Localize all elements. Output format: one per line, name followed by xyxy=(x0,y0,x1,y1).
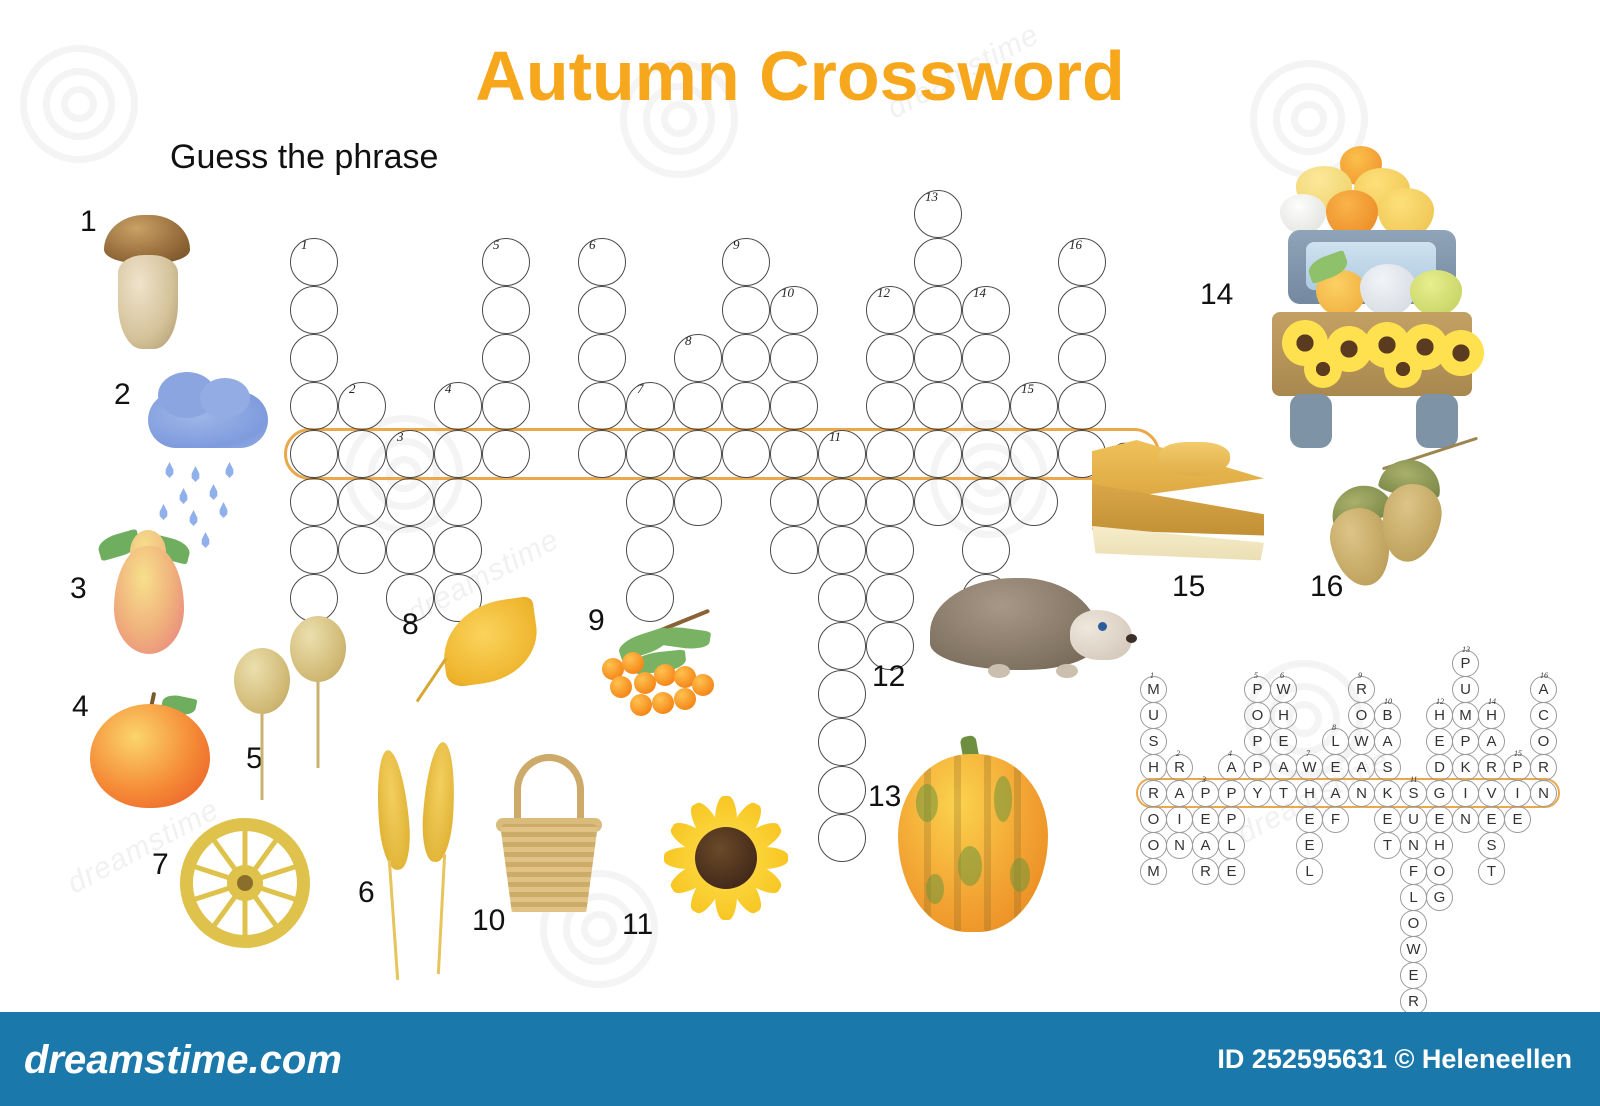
crossword-cell[interactable]: 10 xyxy=(770,286,818,334)
answer-key-cell-number: 6 xyxy=(1280,671,1284,680)
answer-key-cell: U xyxy=(1400,806,1427,833)
crossword-cell[interactable] xyxy=(962,430,1010,478)
answer-key-cell: P xyxy=(1244,728,1271,755)
crossword-cell[interactable] xyxy=(866,526,914,574)
answer-key-cell-number: 5 xyxy=(1254,671,1258,680)
answer-key-cell: E xyxy=(1270,728,1297,755)
crossword-cell-number: 11 xyxy=(829,429,841,445)
answer-key-cell: P5 xyxy=(1244,676,1271,703)
sunflower-illustration xyxy=(646,778,806,938)
clue-number-13: 13 xyxy=(868,780,901,814)
answer-key-cell: I xyxy=(1452,780,1479,807)
crossword-cell[interactable] xyxy=(818,574,866,622)
crossword-cell[interactable] xyxy=(818,814,866,862)
crossword-cell[interactable] xyxy=(482,286,530,334)
answer-key-cell-number: 2 xyxy=(1176,749,1180,758)
answer-key-cell: F xyxy=(1400,858,1427,885)
clue-number-7: 7 xyxy=(152,848,169,882)
answer-key-cell: M xyxy=(1452,702,1479,729)
answer-key-cell: R xyxy=(1530,754,1557,781)
answer-key-cell: I xyxy=(1504,780,1531,807)
answer-key-cell: H xyxy=(1296,780,1323,807)
crossword-cell[interactable] xyxy=(626,478,674,526)
answer-key-cell-number: 1 xyxy=(1150,671,1154,680)
crossword-cell[interactable] xyxy=(1010,478,1058,526)
answer-key-cell: P15 xyxy=(1504,754,1531,781)
answer-key-cell: P xyxy=(1244,754,1271,781)
brand-logo: dreamstime.com xyxy=(24,1038,342,1083)
crossword-cell[interactable] xyxy=(722,334,770,382)
answer-key-cell-number: 14 xyxy=(1488,697,1496,706)
image-credit: ID 252595631 © Heleneellen xyxy=(1217,1044,1572,1075)
answer-key-cell: S xyxy=(1478,832,1505,859)
answer-key-cell: R xyxy=(1140,780,1167,807)
answer-key-cell-number: 8 xyxy=(1332,723,1336,732)
crossword-cell[interactable] xyxy=(626,526,674,574)
answer-key-cell-number: 16 xyxy=(1540,671,1548,680)
crossword-cell[interactable] xyxy=(482,430,530,478)
crossword-cell[interactable] xyxy=(962,526,1010,574)
answer-key-cell: E xyxy=(1296,806,1323,833)
answer-key-cell: E xyxy=(1400,962,1427,989)
poppy-pods-illustration xyxy=(230,612,360,792)
answer-key-cell: T xyxy=(1374,832,1401,859)
wheat-illustration xyxy=(368,742,478,957)
crossword-cell[interactable] xyxy=(866,430,914,478)
crossword-cell[interactable] xyxy=(818,526,866,574)
crossword-cell[interactable]: 1 xyxy=(290,238,338,286)
answer-key-cell: S11 xyxy=(1400,780,1427,807)
answer-key-cell: E xyxy=(1296,832,1323,859)
answer-key-cell: P xyxy=(1218,806,1245,833)
answer-key-cell: R9 xyxy=(1348,676,1375,703)
wagon-wheel-illustration xyxy=(180,818,310,948)
crossword-cell[interactable] xyxy=(338,526,386,574)
answer-key-cell: P3 xyxy=(1192,780,1219,807)
crossword-cell-number: 16 xyxy=(1069,237,1082,253)
answer-key-cell: H xyxy=(1270,702,1297,729)
answer-key-cell: A xyxy=(1166,780,1193,807)
crossword-cell[interactable] xyxy=(1010,430,1058,478)
answer-key-cell: A xyxy=(1374,728,1401,755)
answer-key-cell-number: 10 xyxy=(1384,697,1392,706)
crossword-cell-number: 5 xyxy=(493,237,500,253)
answer-key-cell: K xyxy=(1452,754,1479,781)
pumpkin-truck-illustration xyxy=(1242,144,1502,414)
answer-key-cell: O xyxy=(1244,702,1271,729)
crossword-cell[interactable] xyxy=(770,478,818,526)
basket-illustration xyxy=(500,788,600,928)
answer-key-cell: O xyxy=(1140,806,1167,833)
crossword-cell[interactable] xyxy=(818,670,866,718)
answer-key-cell: P13 xyxy=(1452,650,1479,677)
clue-number-15: 15 xyxy=(1172,570,1205,604)
crossword-cell[interactable]: 14 xyxy=(962,286,1010,334)
crossword-cell[interactable] xyxy=(866,574,914,622)
crossword-cell[interactable] xyxy=(1058,334,1106,382)
answer-key-cell: H12 xyxy=(1426,702,1453,729)
answer-key-cell: E xyxy=(1478,806,1505,833)
clue-number-12: 12 xyxy=(872,660,905,694)
answer-key-cell: U xyxy=(1452,676,1479,703)
crossword-cell-number: 8 xyxy=(685,333,692,349)
answer-key-cell: N xyxy=(1348,780,1375,807)
answer-key-cell: W6 xyxy=(1270,676,1297,703)
crossword-cell[interactable]: 6 xyxy=(578,238,626,286)
crossword-cell[interactable] xyxy=(914,286,962,334)
answer-key-cell: F xyxy=(1322,806,1349,833)
crossword-cell[interactable] xyxy=(434,430,482,478)
answer-key-cell: P xyxy=(1218,780,1245,807)
leaf-illustration xyxy=(420,598,540,708)
answer-key-cell: C xyxy=(1530,702,1557,729)
crossword-cell-number: 2 xyxy=(349,381,356,397)
crossword-cell[interactable] xyxy=(914,430,962,478)
crossword-cell[interactable] xyxy=(818,478,866,526)
answer-key-cell: A16 xyxy=(1530,676,1557,703)
crossword-cell[interactable] xyxy=(482,334,530,382)
answer-key-cell-number: 7 xyxy=(1306,749,1310,758)
answer-key-cell-number: 12 xyxy=(1436,697,1444,706)
answer-key-cell: G xyxy=(1426,780,1453,807)
answer-key-cell: A4 xyxy=(1218,754,1245,781)
answer-key-cell: O xyxy=(1530,728,1557,755)
answer-key-cell: L8 xyxy=(1322,728,1349,755)
crossword-cell[interactable] xyxy=(914,382,962,430)
crossword-cell[interactable] xyxy=(482,382,530,430)
answer-key-cell: E xyxy=(1374,806,1401,833)
answer-key-cell: H14 xyxy=(1478,702,1505,729)
crossword-cell-number: 1 xyxy=(301,237,308,253)
answer-key-cell-number: 13 xyxy=(1462,645,1470,654)
answer-key-cell: L xyxy=(1400,884,1427,911)
answer-key-cell: E xyxy=(1426,728,1453,755)
crossword-cell[interactable] xyxy=(674,382,722,430)
pear-illustration xyxy=(96,522,206,672)
answer-key-cell: T xyxy=(1478,858,1505,885)
answer-key-cell: O xyxy=(1400,910,1427,937)
answer-key-cell: V xyxy=(1478,780,1505,807)
answer-key-cell: N xyxy=(1166,832,1193,859)
crossword-cell[interactable]: 3 xyxy=(386,430,434,478)
crossword-cell[interactable] xyxy=(578,334,626,382)
crossword-cell-number: 4 xyxy=(445,381,452,397)
crossword-cell[interactable]: 5 xyxy=(482,238,530,286)
crossword-cell[interactable]: 11 xyxy=(818,430,866,478)
crossword-cell[interactable] xyxy=(578,382,626,430)
answer-key-cell: E xyxy=(1218,858,1245,885)
answer-key-cell: E xyxy=(1322,754,1349,781)
hedgehog-illustration xyxy=(930,568,1145,698)
crossword-cell-number: 13 xyxy=(925,189,938,205)
answer-key-cell-number: 3 xyxy=(1202,775,1206,784)
crossword-cell[interactable] xyxy=(290,382,338,430)
answer-key-cell: R xyxy=(1400,988,1427,1015)
crossword-cell-number: 7 xyxy=(637,381,644,397)
clue-number-4: 4 xyxy=(72,690,89,724)
answer-key-cell: W xyxy=(1400,936,1427,963)
answer-key-grid: M1USHROOMR2AINP3EARA4PPLEP5OPPYW6HEATW7H… xyxy=(1140,650,1560,950)
answer-key-cell: R2 xyxy=(1166,754,1193,781)
crossword-cell[interactable] xyxy=(578,286,626,334)
answer-key-cell: E xyxy=(1192,806,1219,833)
crossword-cell[interactable]: 4 xyxy=(434,382,482,430)
crossword-cell[interactable] xyxy=(434,526,482,574)
answer-key-cell: A xyxy=(1192,832,1219,859)
crossword-cell[interactable] xyxy=(290,478,338,526)
crossword-cell[interactable]: 7 xyxy=(626,382,674,430)
answer-key-cell-number: 11 xyxy=(1410,775,1417,784)
answer-key-cell: L xyxy=(1218,832,1245,859)
crossword-cell[interactable] xyxy=(386,478,434,526)
answer-key-cell: O xyxy=(1348,702,1375,729)
crossword-cell[interactable] xyxy=(914,334,962,382)
answer-key-cell: A xyxy=(1270,754,1297,781)
crossword-cell-number: 10 xyxy=(781,285,794,301)
crossword-cell[interactable] xyxy=(722,286,770,334)
crossword-cell[interactable] xyxy=(674,478,722,526)
answer-key-cell: O xyxy=(1426,858,1453,885)
answer-key-cell: Y xyxy=(1244,780,1271,807)
pumpkin-illustration xyxy=(898,740,1053,940)
answer-key-cell: S xyxy=(1374,754,1401,781)
crossword-cell[interactable] xyxy=(290,334,338,382)
crossword-cell[interactable] xyxy=(818,718,866,766)
answer-key-cell: U xyxy=(1140,702,1167,729)
crossword-cell-number: 3 xyxy=(397,429,404,445)
crossword-cell[interactable] xyxy=(338,478,386,526)
answer-key-cell: R xyxy=(1478,754,1505,781)
crossword-cell-number: 6 xyxy=(589,237,596,253)
crossword-cell[interactable]: 2 xyxy=(338,382,386,430)
crossword-cell-number: 12 xyxy=(877,285,890,301)
crossword-cell[interactable] xyxy=(722,382,770,430)
rowan-berries-illustration xyxy=(596,600,726,730)
answer-key-cell: G xyxy=(1426,884,1453,911)
crossword-cell[interactable] xyxy=(338,430,386,478)
crossword-cell[interactable] xyxy=(914,478,962,526)
crossword-cell[interactable] xyxy=(962,334,1010,382)
answer-key-cell: W xyxy=(1348,728,1375,755)
answer-key-cell: A xyxy=(1478,728,1505,755)
answer-key-cell: R xyxy=(1192,858,1219,885)
answer-key-cell: E xyxy=(1504,806,1531,833)
clue-number-3: 3 xyxy=(70,572,87,606)
crossword-cell[interactable]: 13 xyxy=(914,190,962,238)
crossword-cell[interactable] xyxy=(1058,286,1106,334)
crossword-cell[interactable] xyxy=(578,430,626,478)
crossword-cell[interactable]: 16 xyxy=(1058,238,1106,286)
crossword-cell[interactable] xyxy=(290,526,338,574)
answer-key-cell: T xyxy=(1270,780,1297,807)
answer-key-cell: P xyxy=(1452,728,1479,755)
crossword-cell[interactable] xyxy=(434,478,482,526)
apple-illustration xyxy=(90,690,216,820)
crossword-cell[interactable] xyxy=(674,430,722,478)
crossword-cell[interactable] xyxy=(866,334,914,382)
clue-number-2: 2 xyxy=(114,378,131,412)
worksheet-page: dreamstime dreamstime dreamstime dreamst… xyxy=(0,0,1600,1106)
crossword-cell[interactable] xyxy=(962,478,1010,526)
answer-key-cell: A xyxy=(1348,754,1375,781)
crossword-cell[interactable]: 9 xyxy=(722,238,770,286)
answer-key-cell: E xyxy=(1426,806,1453,833)
crossword-cell[interactable] xyxy=(290,286,338,334)
footer-bar: dreamstime.com ID 252595631 © Heleneelle… xyxy=(0,1012,1600,1106)
answer-key-cell: N xyxy=(1452,806,1479,833)
answer-key-cell: M xyxy=(1140,858,1167,885)
crossword-cell-number: 9 xyxy=(733,237,740,253)
crossword-cell[interactable]: 8 xyxy=(674,334,722,382)
crossword-cell[interactable] xyxy=(818,766,866,814)
crossword-cell[interactable] xyxy=(386,526,434,574)
crossword-cell[interactable] xyxy=(962,382,1010,430)
crossword-cell[interactable] xyxy=(1058,382,1106,430)
crossword-cell[interactable] xyxy=(626,430,674,478)
answer-key-cell: W7 xyxy=(1296,754,1323,781)
crossword-cell[interactable] xyxy=(866,382,914,430)
crossword-cell[interactable] xyxy=(914,238,962,286)
answer-key-cell-number: 9 xyxy=(1358,671,1362,680)
crossword-cell[interactable] xyxy=(866,478,914,526)
acorns-illustration xyxy=(1326,434,1506,574)
answer-key-cell: N xyxy=(1530,780,1557,807)
answer-key-cell: N xyxy=(1400,832,1427,859)
answer-key-cell: S xyxy=(1140,728,1167,755)
answer-key-cell: H xyxy=(1140,754,1167,781)
answer-key-cell: L xyxy=(1296,858,1323,885)
answer-key-cell: H xyxy=(1426,832,1453,859)
mushroom-illustration xyxy=(104,215,194,355)
clue-number-16: 16 xyxy=(1310,570,1343,604)
crossword-cell[interactable] xyxy=(818,622,866,670)
crossword-cell[interactable] xyxy=(770,430,818,478)
answer-key-cell-number: 15 xyxy=(1514,749,1522,758)
answer-key-cell: K xyxy=(1374,780,1401,807)
pumpkin-pie-illustration xyxy=(1092,440,1272,570)
crossword-cell-number: 14 xyxy=(973,285,986,301)
clue-number-1: 1 xyxy=(80,205,97,239)
clue-number-8: 8 xyxy=(402,608,419,642)
crossword-cell[interactable] xyxy=(722,430,770,478)
crossword-cell[interactable]: 12 xyxy=(866,286,914,334)
answer-key-cell-number: 4 xyxy=(1228,749,1232,758)
answer-key-cell: D xyxy=(1426,754,1453,781)
crossword-cell[interactable] xyxy=(770,334,818,382)
rain-cloud-illustration xyxy=(148,392,278,522)
answer-key-cell: B10 xyxy=(1374,702,1401,729)
crossword-cell[interactable] xyxy=(290,430,338,478)
clue-number-14: 14 xyxy=(1200,278,1233,312)
crossword-cell-number: 15 xyxy=(1021,381,1034,397)
answer-key-cell: I xyxy=(1166,806,1193,833)
crossword-cell[interactable] xyxy=(770,382,818,430)
answer-key-cell: O xyxy=(1140,832,1167,859)
crossword-cell[interactable]: 15 xyxy=(1010,382,1058,430)
answer-key-cell: A xyxy=(1322,780,1349,807)
crossword-cell[interactable] xyxy=(770,526,818,574)
